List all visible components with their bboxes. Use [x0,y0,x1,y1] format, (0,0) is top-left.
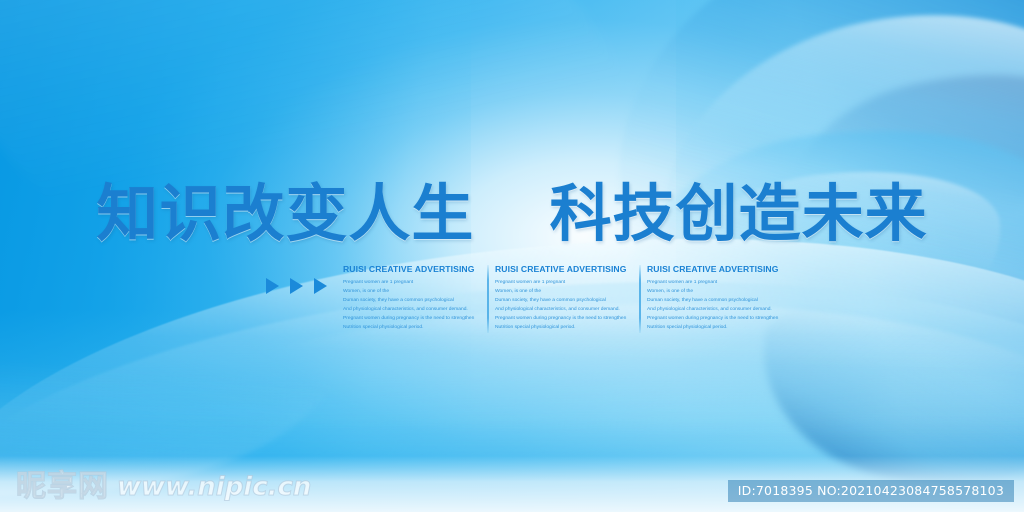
headline-part-2: 科技创造未来 [550,177,928,250]
info-column-title: RUISI CREATIVE ADVERTISING [495,264,639,274]
info-line: Nutrition special physiological period. [343,324,487,333]
info-line: And physiological characteristics, and c… [343,306,487,315]
watermark-url: www.nipic.cn [117,474,311,500]
column-divider [487,265,489,333]
info-column-body: Pregnant women are 1 pregnant Women, is … [647,279,791,333]
background-tint-right [676,0,1024,512]
info-line: Women, is one of the [343,288,487,297]
play-triangle-icon [266,278,279,294]
info-line: Women, is one of the [495,288,639,297]
info-line: Nutrition special physiological period. [495,324,639,333]
info-line: Women, is one of the [647,288,791,297]
info-line: Nutrition special physiological period. [647,324,791,333]
info-columns: RUISI CREATIVE ADVERTISING Pregnant wome… [343,264,791,333]
info-line: And physiological characteristics, and c… [647,306,791,315]
info-line: Duman society, they have a common psycho… [647,297,791,306]
arrow-group [266,278,327,294]
info-line: Pregnant women are 1 pregnant [647,279,791,288]
info-line: Pregnant women are 1 pregnant [495,279,639,288]
info-line: And physiological characteristics, and c… [495,306,639,315]
info-line: Pregnant women during pregnancy is the n… [495,315,639,324]
info-column-title: RUISI CREATIVE ADVERTISING [647,264,791,274]
play-triangle-icon [314,278,327,294]
info-line: Pregnant women during pregnancy is the n… [647,315,791,324]
info-line: Duman society, they have a common psycho… [495,297,639,306]
headline-part-1: 知识改变人生 [96,177,474,250]
info-column-body: Pregnant women are 1 pregnant Women, is … [343,279,487,333]
info-line: Duman society, they have a common psycho… [343,297,487,306]
watermark: 昵享网 www.nipic.cn [16,472,311,502]
info-column-body: Pregnant women are 1 pregnant Women, is … [495,279,639,333]
column-divider [639,265,641,333]
info-line: Pregnant women are 1 pregnant [343,279,487,288]
watermark-brand: 昵享网 [16,472,109,502]
banner-canvas: 知识改变人生 科技创造未来 RUISI CREATIVE ADVERTISING… [0,0,1024,512]
play-triangle-icon [290,278,303,294]
image-id-badge: ID:7018395 NO:20210423084758578103 [728,480,1014,502]
info-line: Pregnant women during pregnancy is the n… [343,315,487,324]
info-column: RUISI CREATIVE ADVERTISING Pregnant wome… [343,264,487,333]
page-title: 知识改变人生 科技创造未来 [0,183,1024,245]
info-column: RUISI CREATIVE ADVERTISING Pregnant wome… [647,264,791,333]
info-column-title: RUISI CREATIVE ADVERTISING [343,264,487,274]
info-column: RUISI CREATIVE ADVERTISING Pregnant wome… [495,264,639,333]
